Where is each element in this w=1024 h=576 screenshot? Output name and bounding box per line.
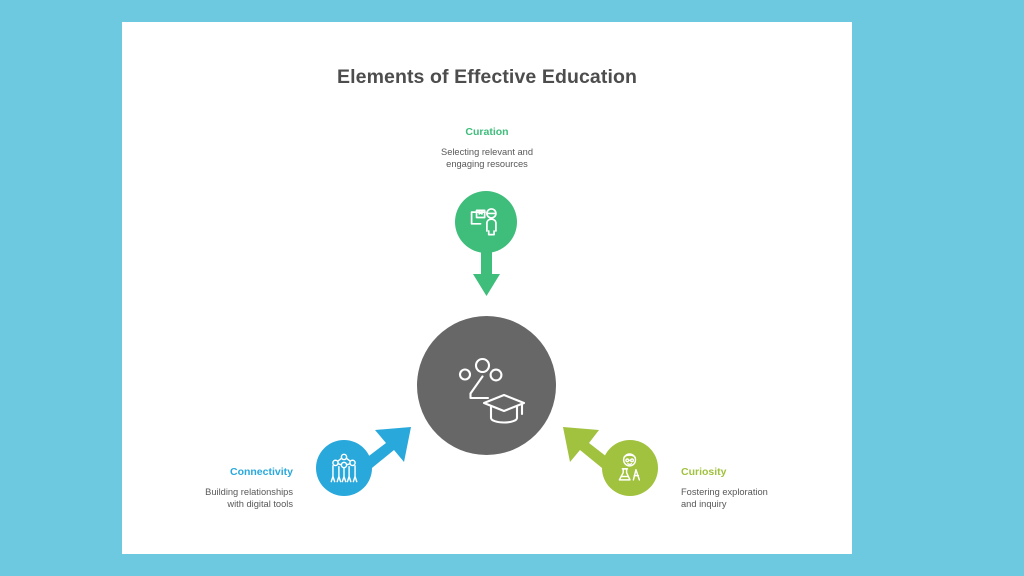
- node-circle-curation[interactable]: [455, 191, 517, 253]
- node-label-curiosity: Curiosity: [681, 466, 841, 479]
- hub-circle[interactable]: [417, 316, 556, 455]
- node-description-curiosity: Fostering exploration and inquiry: [681, 486, 841, 511]
- node-label-connectivity: Connectivity: [140, 466, 293, 479]
- package-person-icon: [468, 204, 504, 240]
- node-circle-connectivity[interactable]: [316, 440, 372, 496]
- network-people-icon: [327, 451, 361, 485]
- diagram-stage: Elements of Effective Education: [0, 0, 1024, 576]
- node-description-curation: Selecting relevant and engaging resource…: [387, 146, 587, 171]
- scientist-flask-icon: [613, 451, 647, 485]
- node-label-curation: Curation: [387, 126, 587, 139]
- page-title: Elements of Effective Education: [122, 66, 852, 89]
- students-graduation-cap-icon: [444, 343, 530, 429]
- node-description-connectivity: Building relationships with digital tool…: [140, 486, 293, 511]
- node-circle-curiosity[interactable]: [602, 440, 658, 496]
- node-connectivity-text: Connectivity Building relationships with…: [140, 466, 293, 511]
- node-curation-text: Curation Selecting relevant and engaging…: [387, 126, 587, 171]
- node-curiosity-text: Curiosity Fostering exploration and inqu…: [681, 466, 841, 511]
